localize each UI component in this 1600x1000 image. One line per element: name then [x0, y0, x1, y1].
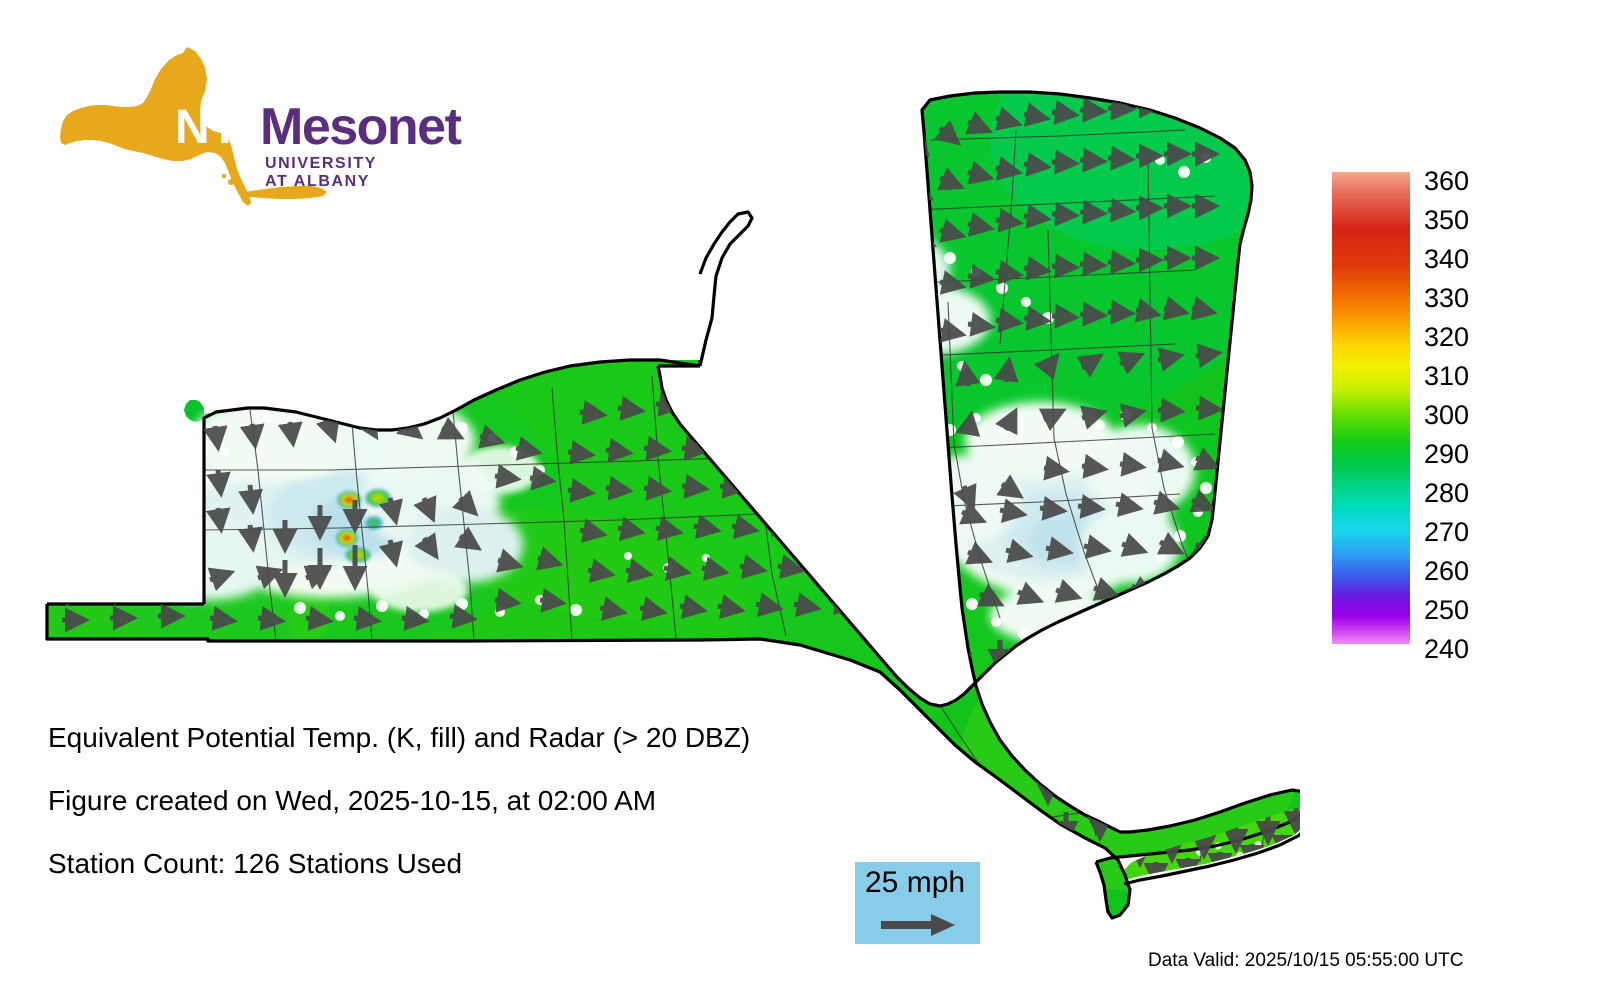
colorbar-tick-310: 310 — [1424, 363, 1469, 390]
figure-created-text: Figure created on Wed, 2025-10-15, at 02… — [48, 785, 656, 817]
colorbar-tick-290: 290 — [1424, 441, 1469, 468]
wind-speed-legend: 25 mph — [855, 862, 980, 944]
colorbar-tick-360: 360 — [1424, 168, 1469, 195]
colorbar: 360 350 340 330 320 310 300 290 280 270 … — [1332, 172, 1502, 652]
right-arrow-icon — [881, 912, 957, 938]
figure-title: Equivalent Potential Temp. (K, fill) and… — [48, 722, 750, 754]
colorbar-tick-270: 270 — [1424, 519, 1469, 546]
colorbar-tick-330: 330 — [1424, 285, 1469, 312]
colorbar-tick-280: 280 — [1424, 480, 1469, 507]
colorbar-tick-240: 240 — [1424, 636, 1469, 663]
colorbar-tick-320: 320 — [1424, 324, 1469, 351]
colorbar-tick-350: 350 — [1424, 207, 1469, 234]
colorbar-gradient — [1332, 172, 1410, 644]
station-count-text: Station Count: 126 Stations Used — [48, 848, 462, 880]
colorbar-tick-250: 250 — [1424, 597, 1469, 624]
colorbar-tick-340: 340 — [1424, 246, 1469, 273]
colorbar-tick-300: 300 — [1424, 402, 1469, 429]
wind-speed-label: 25 mph — [865, 866, 965, 900]
data-valid-timestamp: Data Valid: 2025/10/15 05:55:00 UTC — [1148, 950, 1463, 972]
colorbar-tick-260: 260 — [1424, 558, 1469, 585]
